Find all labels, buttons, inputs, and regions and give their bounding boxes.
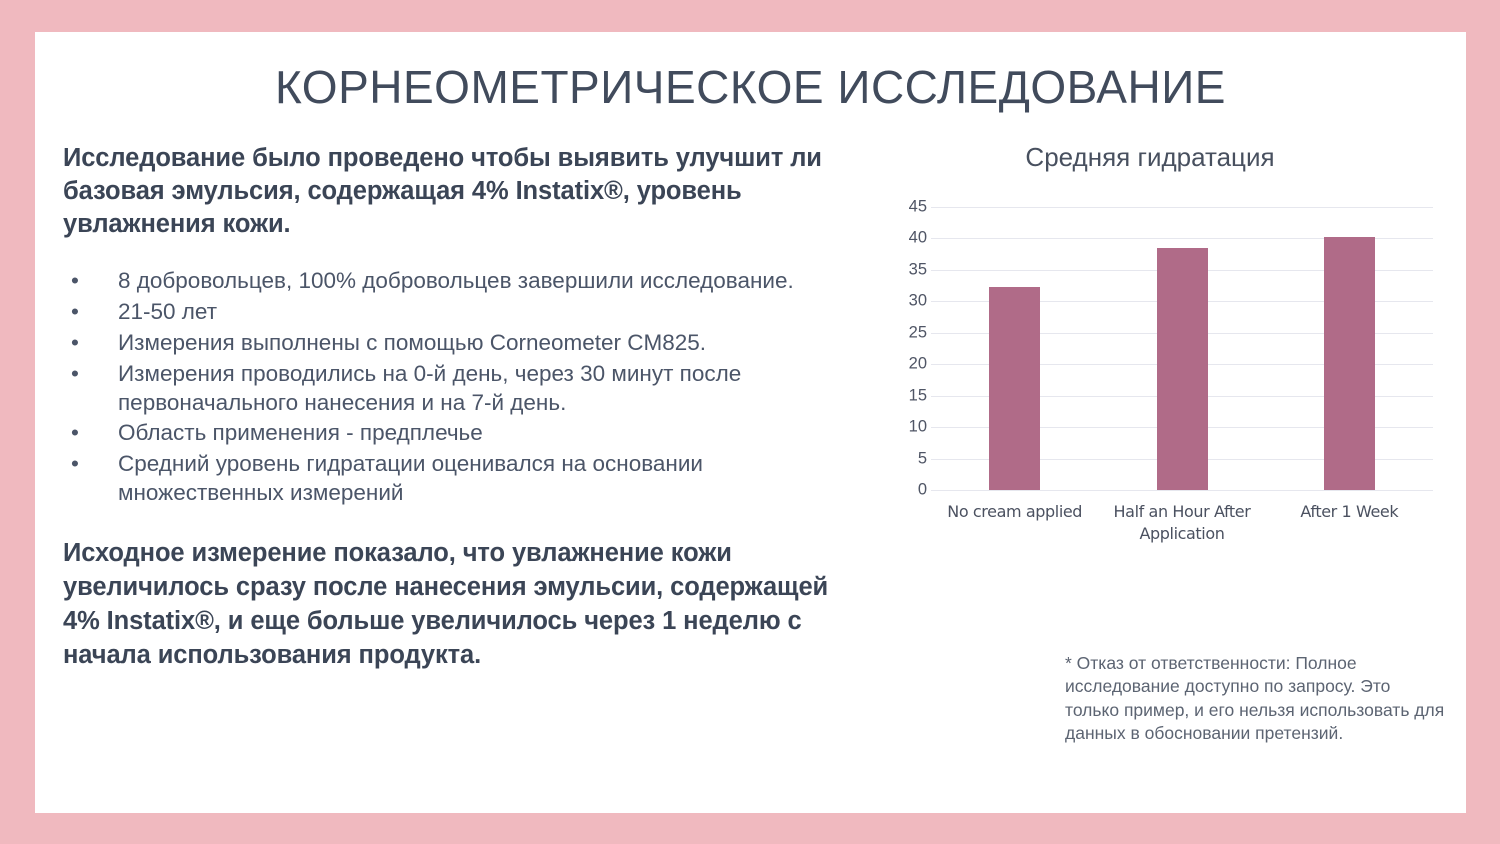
chart-title: Средняя гидратация xyxy=(855,142,1445,173)
chart-bar xyxy=(1324,237,1375,490)
page-title: КОРНЕОМЕТРИЧЕСКОЕ ИССЛЕДОВАНИЕ xyxy=(35,60,1466,114)
chart-bar xyxy=(989,287,1040,490)
study-details-list: • 8 добровольцев, 100% добровольцев заве… xyxy=(63,267,863,507)
chart-gridline xyxy=(931,490,1433,491)
chart-gridline xyxy=(931,207,1433,208)
y-axis-tick-label: 25 xyxy=(879,323,927,342)
closing-paragraph: Исходное измерение показало, что увлажне… xyxy=(63,536,863,673)
list-item-label: Средний уровень гидратации оценивался на… xyxy=(118,451,703,505)
list-item-label: Измерения выполнены с помощью Corneomete… xyxy=(118,330,706,355)
x-axis-tick-label: No cream applied xyxy=(931,501,1098,523)
y-axis-tick-label: 20 xyxy=(879,355,927,374)
list-item: • Измерения выполнены с помощью Corneome… xyxy=(63,329,863,358)
left-content-column: Исследование было проведено чтобы выявит… xyxy=(63,142,863,672)
hydration-bar-chart: Средняя гидратация 454035302520151050No … xyxy=(855,142,1445,592)
slide-card: КОРНЕОМЕТРИЧЕСКОЕ ИССЛЕДОВАНИЕ Исследова… xyxy=(35,32,1466,813)
x-axis-tick-label: After 1 Week xyxy=(1266,501,1433,523)
list-item: • Средний уровень гидратации оценивался … xyxy=(63,450,863,508)
lead-paragraph: Исследование было проведено чтобы выявит… xyxy=(63,142,863,241)
x-axis-tick-label: Half an Hour After Application xyxy=(1098,501,1265,544)
chart-bar xyxy=(1157,248,1208,490)
list-item: • Область применения - предплечье xyxy=(63,419,863,448)
y-axis-tick-label: 40 xyxy=(879,229,927,248)
disclaimer-text: * Отказ от ответственности: Полное иссле… xyxy=(1065,652,1447,745)
chart-plot-area: 454035302520151050No cream appliedHalf a… xyxy=(931,207,1433,490)
y-axis-tick-label: 5 xyxy=(879,449,927,468)
bullet-icon: • xyxy=(71,267,79,296)
y-axis-tick-label: 30 xyxy=(879,292,927,311)
list-item: • 8 добровольцев, 100% добровольцев заве… xyxy=(63,267,863,296)
y-axis-tick-label: 35 xyxy=(879,260,927,279)
list-item-label: 8 добровольцев, 100% добровольцев заверш… xyxy=(118,268,794,293)
bullet-icon: • xyxy=(71,360,79,389)
list-item: • 21-50 лет xyxy=(63,298,863,327)
bullet-icon: • xyxy=(71,329,79,358)
bullet-icon: • xyxy=(71,298,79,327)
list-item-label: Область применения - предплечье xyxy=(118,420,483,445)
bullet-icon: • xyxy=(71,450,79,479)
y-axis-tick-label: 45 xyxy=(879,198,927,217)
list-item: • Измерения проводились на 0-й день, чер… xyxy=(63,360,863,418)
list-item-label: Измерения проводились на 0-й день, через… xyxy=(118,361,741,415)
y-axis-tick-label: 0 xyxy=(879,481,927,500)
bullet-icon: • xyxy=(71,419,79,448)
y-axis-tick-label: 10 xyxy=(879,418,927,437)
list-item-label: 21-50 лет xyxy=(118,299,217,324)
y-axis-tick-label: 15 xyxy=(879,386,927,405)
